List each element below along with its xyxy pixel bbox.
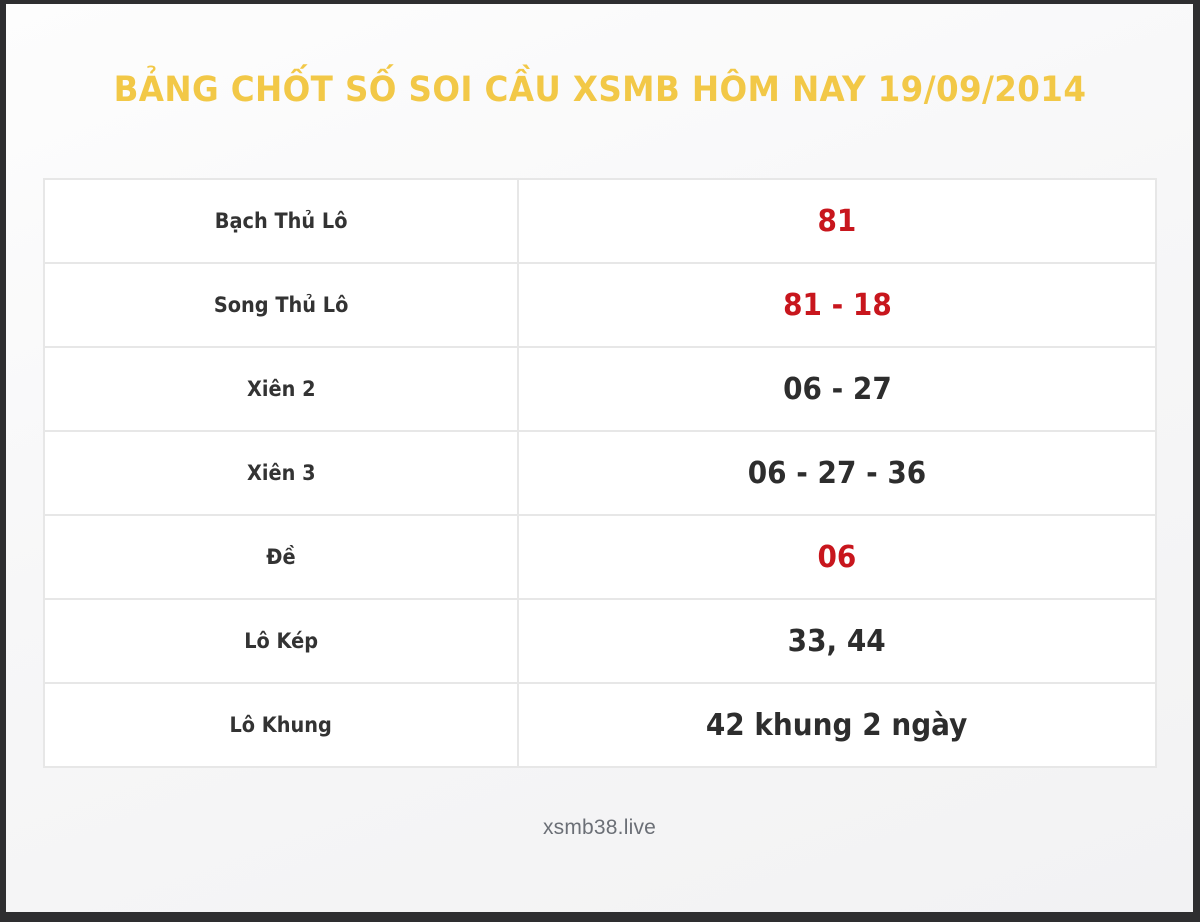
row-value: 06: [818, 540, 857, 575]
row-label-cell: Xiên 3: [44, 431, 518, 515]
row-label: Xiên 3: [247, 461, 316, 485]
row-label-cell: Lô Kép: [44, 599, 518, 683]
row-label-cell: Song Thủ Lô: [44, 263, 518, 347]
row-value: 06 - 27 - 36: [748, 456, 927, 491]
row-value: 06 - 27: [783, 372, 892, 407]
row-label: Song Thủ Lô: [214, 293, 349, 317]
row-value-cell: 06: [518, 515, 1156, 599]
row-value-cell: 06 - 27: [518, 347, 1156, 431]
row-value-cell: 06 - 27 - 36: [518, 431, 1156, 515]
page-frame: BẢNG CHỐT SỐ SOI CẦU XSMB HÔM NAY 19/09/…: [6, 4, 1193, 912]
table-row: Lô Khung42 khung 2 ngày: [44, 683, 1156, 767]
row-value: 42 khung 2 ngày: [706, 708, 967, 743]
row-value: 33, 44: [788, 624, 886, 659]
row-label: Bạch Thủ Lô: [215, 209, 348, 233]
row-value: 81: [818, 204, 857, 239]
table-row: Bạch Thủ Lô81: [44, 179, 1156, 263]
row-label: Lô Kép: [244, 629, 318, 653]
row-label-cell: Đề: [44, 515, 518, 599]
table-row: Xiên 306 - 27 - 36: [44, 431, 1156, 515]
footer-site-label: xsmb38.live: [543, 816, 656, 839]
page-title: BẢNG CHỐT SỐ SOI CẦU XSMB HÔM NAY 19/09/…: [113, 70, 1086, 110]
prediction-table-body: Bạch Thủ Lô81Song Thủ Lô81 - 18Xiên 206 …: [44, 179, 1156, 767]
prediction-table: Bạch Thủ Lô81Song Thủ Lô81 - 18Xiên 206 …: [43, 178, 1157, 768]
table-row: Lô Kép33, 44: [44, 599, 1156, 683]
table-row: Xiên 206 - 27: [44, 347, 1156, 431]
footer: xsmb38.live: [6, 816, 1193, 840]
row-value: 81 - 18: [783, 288, 892, 323]
table-row: Đề06: [44, 515, 1156, 599]
row-label: Lô Khung: [230, 713, 332, 737]
row-label-cell: Lô Khung: [44, 683, 518, 767]
row-value-cell: 81: [518, 179, 1156, 263]
page-header: BẢNG CHỐT SỐ SOI CẦU XSMB HÔM NAY 19/09/…: [6, 4, 1193, 176]
table-row: Song Thủ Lô81 - 18: [44, 263, 1156, 347]
row-label: Xiên 2: [247, 377, 316, 401]
row-label-cell: Xiên 2: [44, 347, 518, 431]
row-value-cell: 81 - 18: [518, 263, 1156, 347]
row-value-cell: 33, 44: [518, 599, 1156, 683]
row-value-cell: 42 khung 2 ngày: [518, 683, 1156, 767]
row-label: Đề: [266, 545, 295, 569]
row-label-cell: Bạch Thủ Lô: [44, 179, 518, 263]
